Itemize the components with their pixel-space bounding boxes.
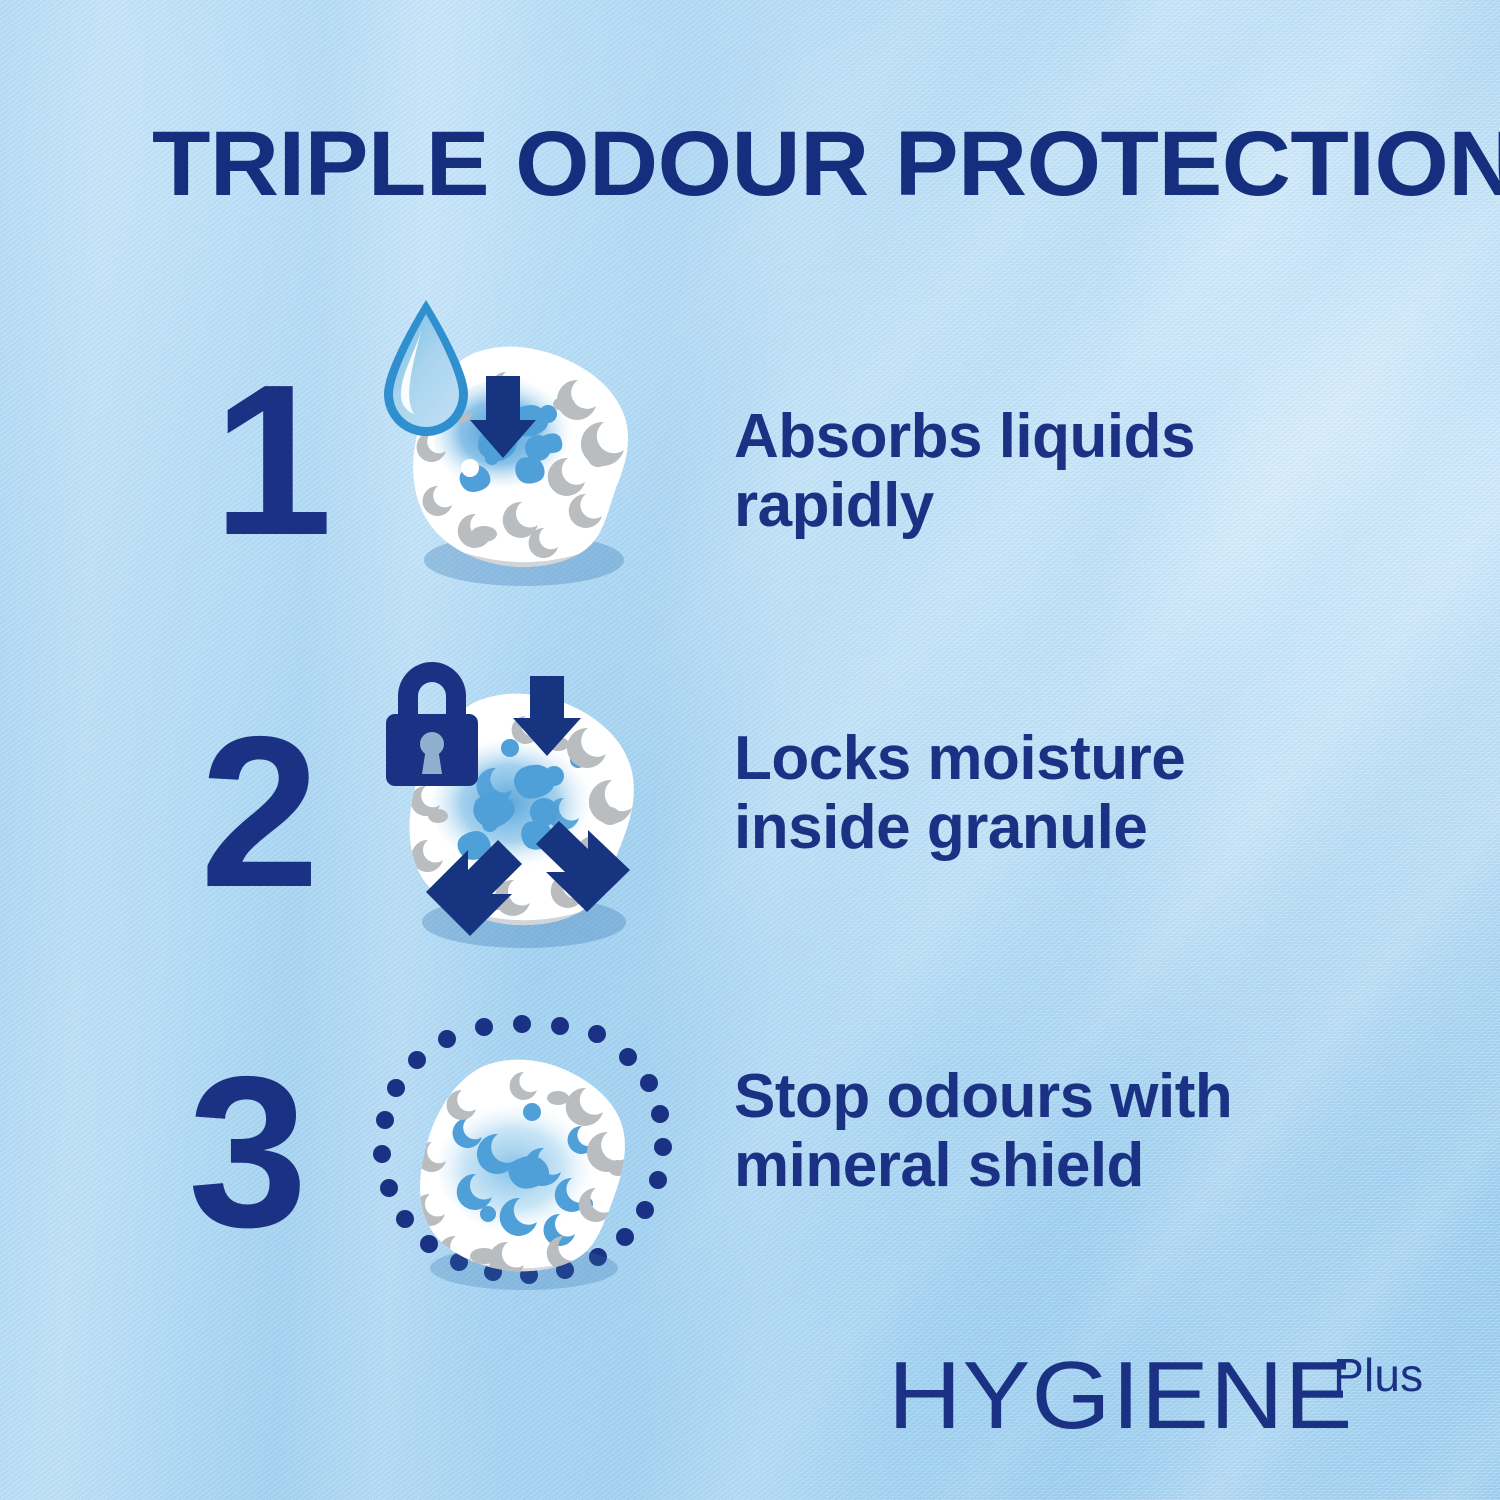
step-1-line-1: Absorbs liquids xyxy=(734,402,1374,471)
step-3-illustration xyxy=(372,1008,672,1288)
page-title: TRIPLE ODOUR PROTECTION xyxy=(152,118,1442,210)
infographic-stage: TRIPLE ODOUR PROTECTION 1 xyxy=(0,0,1500,1500)
brand-name: HYGIENE xyxy=(888,1348,1353,1444)
step-1-illustration xyxy=(372,288,672,608)
step-1-line-2: rapidly xyxy=(734,471,1374,540)
step-3-text: Stop odours with mineral shield xyxy=(734,1062,1374,1201)
step-number-1: 1 xyxy=(213,352,329,567)
step-2-line-1: Locks moisture xyxy=(734,724,1374,793)
step-item-1: 1 xyxy=(0,288,1500,608)
step-item-3: 3 xyxy=(0,1008,1500,1288)
step-number-3: 3 xyxy=(188,1044,304,1259)
step-2-line-2: inside granule xyxy=(734,793,1374,862)
step-3-line-2: mineral shield xyxy=(734,1131,1374,1200)
padlock-icon xyxy=(386,662,478,786)
step-3-line-1: Stop odours with xyxy=(734,1062,1374,1131)
brand-logo: HYGIENE Plus xyxy=(888,1348,1423,1444)
water-droplet-icon xyxy=(384,300,468,436)
step-item-2: 2 xyxy=(0,640,1500,960)
step-2-text: Locks moisture inside granule xyxy=(734,724,1374,863)
step-number-2: 2 xyxy=(200,704,316,919)
step-2-illustration xyxy=(372,640,672,960)
step-1-text: Absorbs liquids rapidly xyxy=(734,402,1374,541)
